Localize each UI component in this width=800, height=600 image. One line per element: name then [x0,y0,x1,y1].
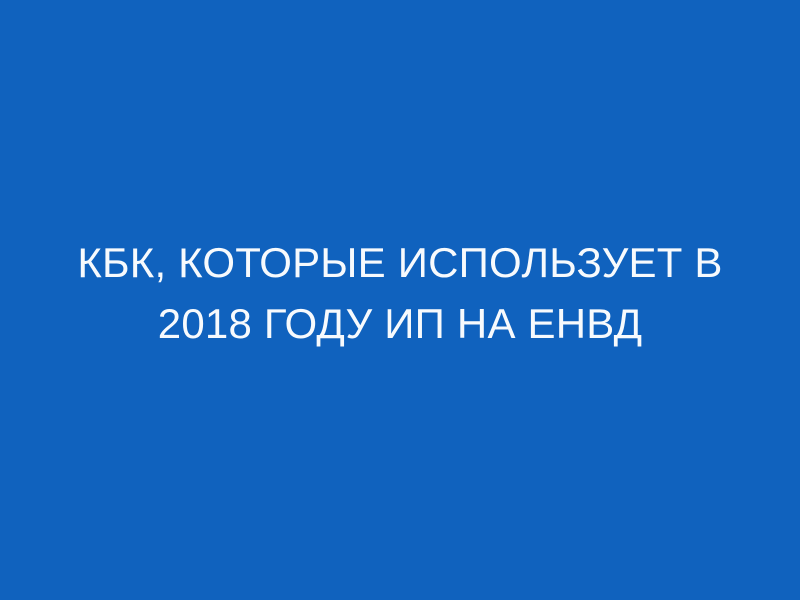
page-title: КБК, КОТОРЫЕ ИСПОЛЬЗУЕТ В 2018 ГОДУ ИП Н… [0,0,800,593]
page-title-line-2: 2018 ГОДУ ИП НА ЕНВД [60,293,740,354]
title-card: КБК, КОТОРЫЕ ИСПОЛЬЗУЕТ В 2018 ГОДУ ИП Н… [0,0,800,600]
page-title-line-1: КБК, КОТОРЫЕ ИСПОЛЬЗУЕТ В [60,232,740,293]
